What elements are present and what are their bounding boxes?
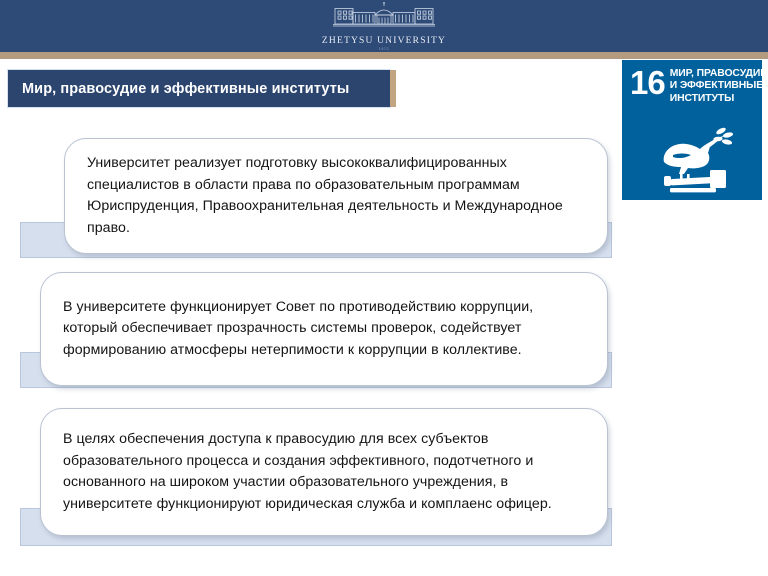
content-card-2[interactable]: В университете функционирует Совет по пр…: [40, 272, 608, 386]
presentation-slide: ZHETYSU UNIVERSITY 1972 Мир, правосудие …: [0, 0, 768, 576]
content-card-2-text: В университете функционирует Совет по пр…: [41, 297, 607, 362]
content-card-1-text: Университет реализует подготовку высокок…: [65, 153, 607, 239]
content-card-3[interactable]: В целях обеспечения доступа к правосудию…: [40, 408, 608, 536]
content-card-3-text: В целях обеспечения доступа к правосудию…: [41, 429, 607, 515]
content-card-1[interactable]: Университет реализует подготовку высокок…: [64, 138, 608, 254]
content-card-group: Университет реализует подготовку высокок…: [0, 0, 768, 576]
